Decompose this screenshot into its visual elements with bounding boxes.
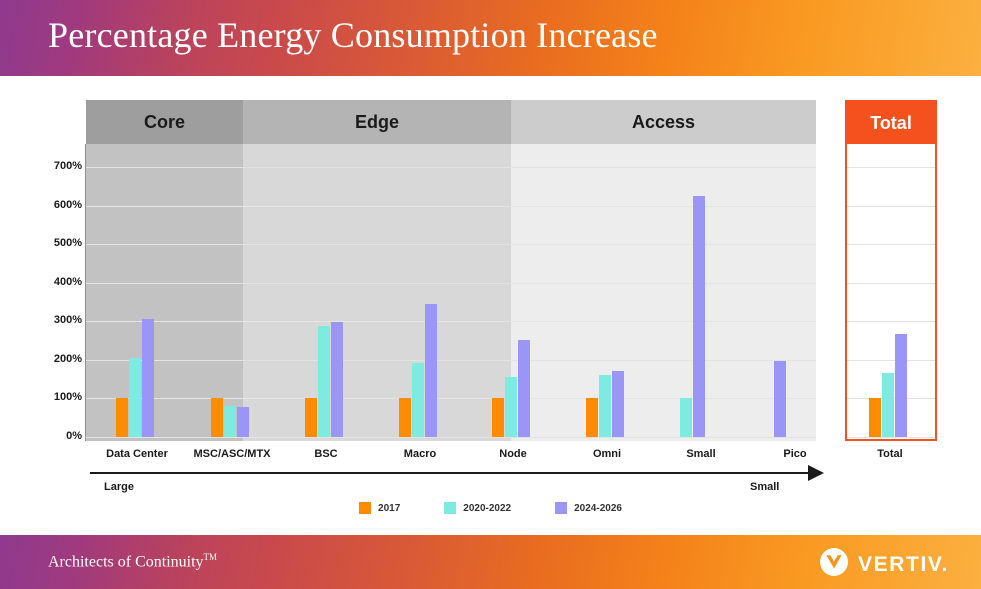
y-axis-tick-label: 600% [36, 199, 82, 211]
bar-group-bars [305, 322, 343, 437]
bar [693, 196, 705, 437]
bar [237, 407, 249, 437]
band-header-access: Access [511, 100, 816, 144]
band-plot-core [86, 144, 243, 441]
bar [774, 361, 786, 437]
gridline [86, 437, 816, 438]
bar [305, 398, 317, 437]
bar-group-bars [680, 196, 705, 437]
y-axis-tick-label: 300% [36, 314, 82, 326]
gridline [847, 167, 935, 168]
legend-swatch [555, 502, 567, 514]
bar-group-bars [211, 398, 249, 437]
size-label-large: Large [104, 481, 134, 493]
page-title: Percentage Energy Consumption Increase [48, 14, 658, 56]
size-arrow [90, 472, 812, 474]
bar [505, 377, 517, 437]
gridline [86, 360, 816, 361]
size-arrow-head-icon [808, 465, 824, 481]
bar [211, 398, 223, 437]
footer-tagline: Architects of ContinuityTM [48, 552, 217, 571]
bar [331, 322, 343, 437]
gridline [86, 206, 816, 207]
vertiv-v-logo-icon [819, 547, 849, 582]
brand-wordmark: VERTIV. [858, 553, 949, 577]
y-axis-tick-label: 100% [36, 391, 82, 403]
gridline [86, 398, 816, 399]
bar-group-bars [116, 319, 154, 437]
bar [518, 340, 530, 437]
bar-group-bars [399, 304, 437, 437]
footer-tagline-text: Architects of Continuity [48, 553, 204, 570]
bar-group-bars [492, 340, 530, 437]
size-label-small: Small [750, 481, 779, 493]
bar [882, 373, 894, 437]
chart-legend: 20172020-20222024-2026 [0, 502, 981, 514]
y-axis-tick-label: 0% [36, 430, 82, 442]
bar [680, 398, 692, 437]
bar [492, 398, 504, 437]
gridline [847, 244, 935, 245]
band-plot-access [511, 144, 816, 441]
bar [412, 363, 424, 437]
bar [612, 371, 624, 437]
gridline [86, 283, 816, 284]
chart-area: 0%100%200%300%400%500%600%700% Core Edge… [0, 76, 981, 535]
gridline [86, 244, 816, 245]
gridline [86, 167, 816, 168]
x-axis-label: Total [820, 448, 960, 460]
bar [399, 398, 411, 437]
gridline [86, 321, 816, 322]
band-header-edge: Edge [243, 100, 511, 144]
legend-swatch [444, 502, 456, 514]
legend-swatch [359, 502, 371, 514]
slide: Percentage Energy Consumption Increase 0… [0, 0, 981, 589]
legend-item: 2020-2022 [444, 502, 511, 514]
legend-label: 2020-2022 [463, 503, 511, 514]
bar-group-bars [774, 361, 786, 437]
bar [224, 406, 236, 437]
footer-banner: Architects of ContinuityTM VERTIV. [0, 535, 981, 589]
gridline [847, 283, 935, 284]
legend-item: 2017 [359, 502, 400, 514]
trademark-mark: TM [204, 552, 218, 562]
y-axis: 0%100%200%300%400%500%600%700% [30, 76, 82, 535]
bar [116, 398, 128, 437]
bar-group-bars [869, 334, 907, 437]
bar [869, 398, 881, 437]
y-axis-tick-label: 200% [36, 353, 82, 365]
gridline [847, 321, 935, 322]
bar [895, 334, 907, 437]
bar-group-bars [586, 371, 624, 437]
gridline [847, 206, 935, 207]
band-header-total: Total [847, 102, 935, 144]
legend-label: 2024-2026 [574, 503, 622, 514]
bar [425, 304, 437, 437]
y-axis-tick-label: 700% [36, 160, 82, 172]
band-plot-edge [243, 144, 511, 441]
bar [318, 326, 330, 437]
bar [129, 358, 141, 437]
y-axis-tick-label: 500% [36, 237, 82, 249]
gridline [847, 437, 935, 438]
bar [586, 398, 598, 437]
brand-logo: VERTIV. [819, 547, 949, 582]
bar [599, 375, 611, 437]
band-header-core: Core [86, 100, 243, 144]
legend-label: 2017 [378, 503, 400, 514]
header-banner: Percentage Energy Consumption Increase [0, 0, 981, 76]
bar [142, 319, 154, 437]
y-axis-tick-label: 400% [36, 276, 82, 288]
legend-item: 2024-2026 [555, 502, 622, 514]
